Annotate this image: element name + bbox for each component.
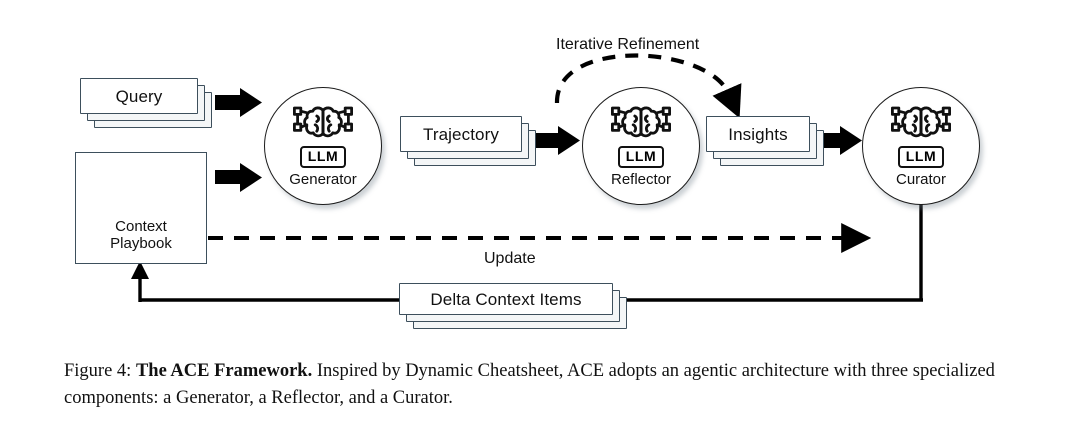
brain-network-icon-generator <box>292 104 354 144</box>
llm-badge-reflector: LLM <box>618 146 665 168</box>
node-role-reflector: Reflector <box>611 171 671 188</box>
context-playbook-label-line2: Playbook <box>110 236 172 253</box>
card-label-insights: Insights <box>728 126 787 143</box>
caption-title: The ACE Framework. <box>136 361 312 381</box>
figure-ace-framework: Query Context Playbook <box>0 0 1080 428</box>
llm-badge-generator: LLM <box>300 146 347 168</box>
card-query[interactable]: Query <box>80 78 216 132</box>
card-face-insights[interactable]: Insights <box>706 116 810 152</box>
card-face-query[interactable]: Query <box>80 78 198 114</box>
arrow-query-to-generator <box>215 88 262 117</box>
panel-context-playbook[interactable]: Context Playbook <box>75 152 207 264</box>
brain-network-icon-curator <box>890 104 952 144</box>
brain-network-icon-reflector <box>610 104 672 144</box>
node-reflector[interactable]: LLM Reflector <box>582 87 700 205</box>
card-label-query: Query <box>116 88 163 105</box>
card-face-delta-context-items[interactable]: Delta Context Items <box>399 283 613 315</box>
card-trajectory[interactable]: Trajectory <box>400 116 550 172</box>
node-role-curator: Curator <box>896 171 946 188</box>
caption-prefix: Figure 4: <box>64 361 131 381</box>
figure-caption: Figure 4: The ACE Framework. Inspired by… <box>64 358 1016 413</box>
node-role-generator: Generator <box>289 171 357 188</box>
llm-badge-curator: LLM <box>898 146 945 168</box>
label-update: Update <box>484 250 536 268</box>
label-iterative-refinement: Iterative Refinement <box>556 36 699 54</box>
card-delta-context-items[interactable]: Delta Context Items <box>399 283 639 333</box>
context-playbook-label-line1: Context <box>110 219 172 236</box>
card-label-trajectory: Trajectory <box>423 126 499 143</box>
context-playbook-labels: Context Playbook <box>110 219 172 253</box>
arrow-playbook-to-generator <box>215 163 262 192</box>
card-insights[interactable]: Insights <box>706 116 841 172</box>
node-curator[interactable]: LLM Curator <box>862 87 980 205</box>
diagram-canvas: Query Context Playbook <box>0 0 1080 345</box>
card-label-delta-context-items: Delta Context Items <box>430 291 581 308</box>
card-face-trajectory[interactable]: Trajectory <box>400 116 522 152</box>
node-generator[interactable]: LLM Generator <box>264 87 382 205</box>
